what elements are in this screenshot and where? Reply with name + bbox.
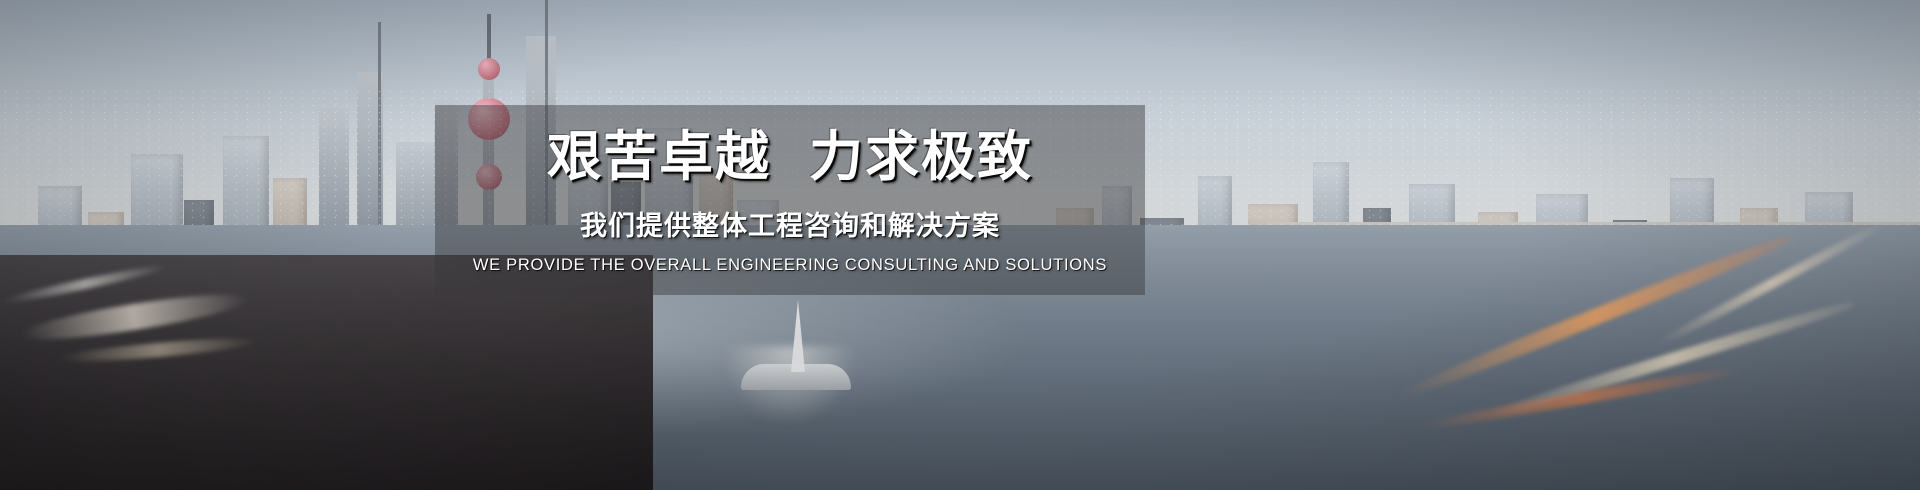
headline-part-1: 艰苦卓越	[547, 127, 771, 187]
banner-text-stack: 艰苦卓越力求极致 我们提供整体工程咨询和解决方案 WE PROVIDE THE …	[435, 105, 1145, 295]
banner-subtitle-english: WE PROVIDE THE OVERALL ENGINEERING CONSU…	[473, 256, 1107, 275]
hero-banner: 艰苦卓越力求极致 我们提供整体工程咨询和解决方案 WE PROVIDE THE …	[0, 0, 1920, 490]
banner-headline: 艰苦卓越力求极致	[547, 129, 1033, 186]
headline-part-2: 力求极致	[809, 127, 1033, 187]
banner-subtitle-chinese: 我们提供整体工程咨询和解决方案	[580, 204, 1000, 243]
